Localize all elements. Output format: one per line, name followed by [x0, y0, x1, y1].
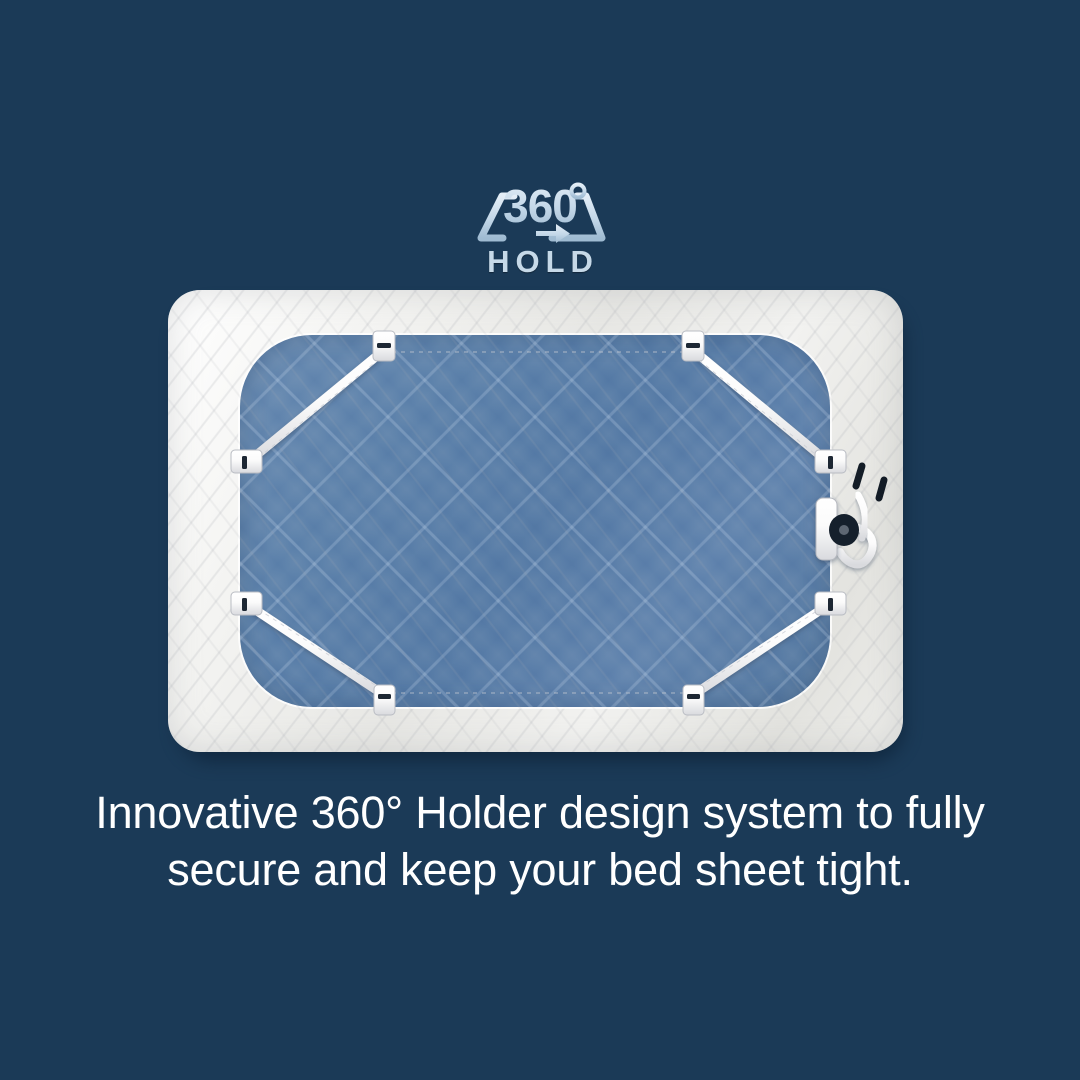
caption-text: Innovative 360° Holder design system to …: [35, 784, 1045, 898]
360-rotation-arrow-icon: 360: [474, 176, 606, 250]
caption-line-2: secure and keep your bed sheet tight.: [35, 841, 1045, 898]
svg-text:360: 360: [503, 180, 577, 232]
product-photo: [168, 290, 904, 753]
promo-image-canvas: 360 HOLD: [0, 0, 1080, 1080]
strap-harness: [168, 290, 903, 752]
caption-line-1: Innovative 360° Holder design system to …: [35, 784, 1045, 841]
brand-logo: 360 HOLD: [0, 176, 1080, 280]
logo-wordmark: HOLD: [481, 246, 599, 277]
